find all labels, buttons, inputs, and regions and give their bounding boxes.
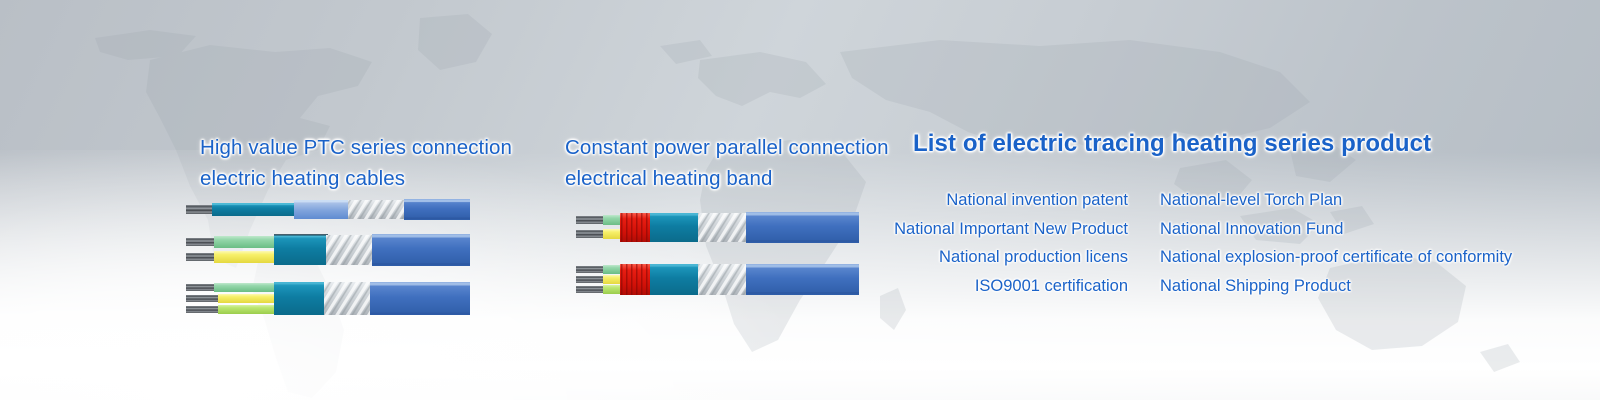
ptc-cable-3-conductor <box>186 282 470 316</box>
certification-item: National Important New Product <box>860 215 1128 244</box>
certification-item: National-level Torch Plan <box>1160 186 1560 215</box>
certification-item: National production licens <box>860 243 1128 272</box>
left-group-heading: High value PTC series connection electri… <box>200 132 512 194</box>
certification-item: ISO9001 certification <box>860 272 1128 301</box>
certification-item: National Shipping Product <box>1160 272 1560 301</box>
middle-group-heading: Constant power parallel connection elect… <box>565 132 889 194</box>
stranded-wire <box>576 266 605 293</box>
middle-heading-line2: electrical heating band <box>565 163 889 194</box>
certification-item: National invention patent <box>860 186 1128 215</box>
certification-item: National Innovation Fund <box>1160 215 1560 244</box>
banner-stage: High value PTC series connection electri… <box>0 0 1600 400</box>
ptc-cable-1-conductor <box>186 198 470 222</box>
left-heading-line1: High value PTC series connection <box>200 132 512 163</box>
certification-item: National explosion-proof certificate of … <box>1160 243 1560 272</box>
stranded-wire <box>186 205 214 214</box>
stranded-wire <box>576 216 605 238</box>
constant-power-band-2-conductor <box>576 212 859 244</box>
certification-list: National invention patent National-level… <box>860 186 1560 300</box>
stranded-wire <box>186 238 216 261</box>
left-heading-line2: electric heating cables <box>200 163 512 194</box>
ptc-cable-2-conductor <box>186 234 470 268</box>
constant-power-band-3-conductor <box>576 264 859 296</box>
middle-heading-line1: Constant power parallel connection <box>565 132 889 163</box>
right-panel-title: List of electric tracing heating series … <box>913 128 1431 160</box>
